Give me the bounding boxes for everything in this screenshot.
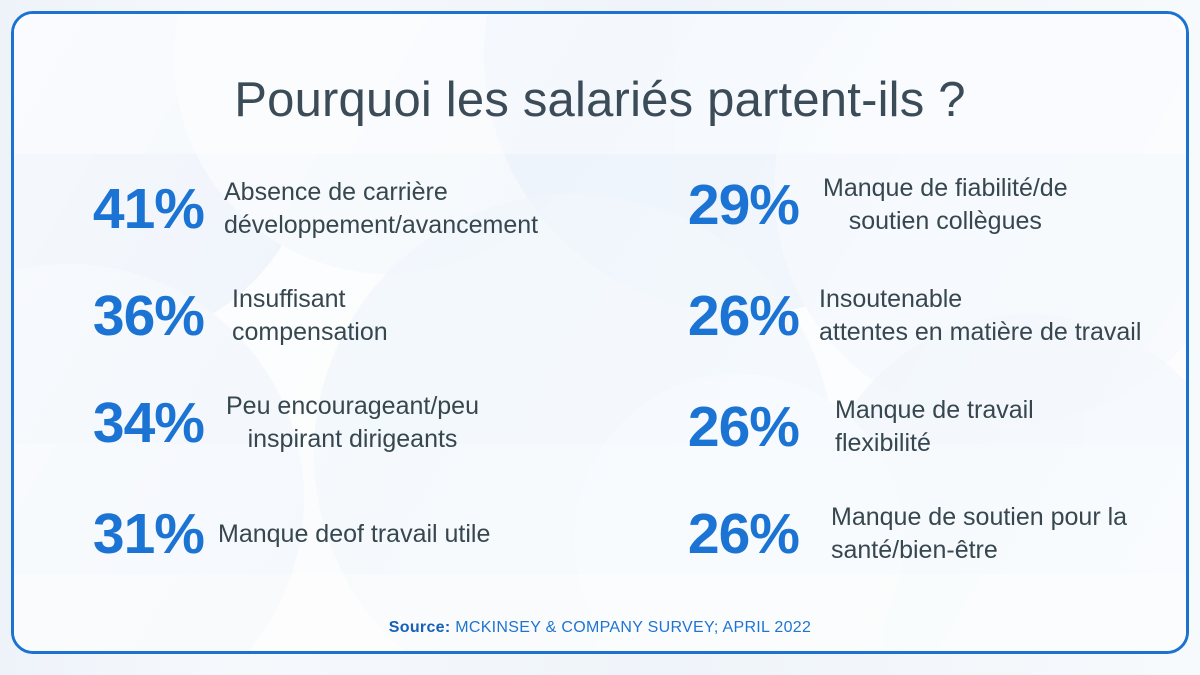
stat-label-line: Manque deof travail utile: [218, 518, 490, 551]
stat-percent: 29%: [654, 177, 799, 234]
stat-row: 41% Absence de carrière développement/av…: [69, 164, 649, 254]
stat-label: Insoutenable attentes en matière de trav…: [819, 283, 1141, 349]
stat-label-line: soutien collègues: [823, 205, 1068, 238]
stat-label: Manque deof travail utile: [218, 518, 490, 551]
stat-label-line: Insuffisant: [232, 283, 388, 316]
infographic-slide: Pourquoi les salariés partent-ils ? 41% …: [0, 0, 1200, 675]
stat-row: 34% Peu encourageant/peu inspirant dirig…: [69, 378, 649, 468]
stat-label: Absence de carrière développement/avance…: [224, 176, 538, 242]
stat-label: Manque de fiabilité/de soutien collègues: [823, 172, 1068, 238]
stat-row: 36% Insuffisant compensation: [69, 271, 649, 361]
stat-label: Peu encourageant/peu inspirant dirigeant…: [226, 390, 479, 456]
stat-row: 26% Insoutenable attentes en matière de …: [654, 271, 1189, 361]
stat-percent: 26%: [654, 506, 799, 563]
stat-percent: 41%: [69, 181, 204, 238]
stat-percent: 26%: [654, 399, 799, 456]
stat-label-line: compensation: [232, 316, 388, 349]
stat-label-line: développement/avancement: [224, 209, 538, 242]
source-label: Source:: [389, 619, 451, 636]
stat-label-line: flexibilité: [835, 427, 1034, 460]
stat-row: 29% Manque de fiabilité/de soutien collè…: [654, 160, 1189, 250]
stat-label-line: Absence de carrière: [224, 176, 538, 209]
stat-label: Manque de travail flexibilité: [835, 394, 1034, 460]
stat-label-line: Peu encourageant/peu: [226, 390, 479, 423]
slide-card: Pourquoi les salariés partent-ils ? 41% …: [11, 11, 1189, 654]
stat-label-line: Manque de travail: [835, 394, 1034, 427]
stat-label-line: Manque de soutien pour la: [831, 501, 1127, 534]
stat-row: 26% Manque de travail flexibilité: [654, 382, 1189, 472]
stat-percent: 26%: [654, 288, 799, 345]
stat-row: 26% Manque de soutien pour la santé/bien…: [654, 489, 1189, 579]
stat-percent: 31%: [69, 506, 204, 563]
stat-label-line: inspirant dirigeants: [226, 423, 479, 456]
source-text: MCKINSEY & COMPANY SURVEY; APRIL 2022: [450, 619, 811, 636]
stat-label: Manque de soutien pour la santé/bien-êtr…: [831, 501, 1127, 567]
stat-label-line: Insoutenable: [819, 283, 1141, 316]
slide-content: Pourquoi les salariés partent-ils ? 41% …: [14, 14, 1186, 651]
stat-percent: 36%: [69, 288, 204, 345]
stat-label: Insuffisant compensation: [232, 283, 388, 349]
stat-label-line: santé/bien-être: [831, 534, 1127, 567]
page-title: Pourquoi les salariés partent-ils ?: [14, 72, 1186, 128]
stat-label-line: Manque de fiabilité/de: [823, 172, 1068, 205]
stat-label-line: attentes en matière de travail: [819, 316, 1141, 349]
stat-row: 31% Manque deof travail utile: [69, 489, 649, 579]
stat-percent: 34%: [69, 395, 204, 452]
source-note: Source: MCKINSEY & COMPANY SURVEY; APRIL…: [14, 619, 1186, 637]
